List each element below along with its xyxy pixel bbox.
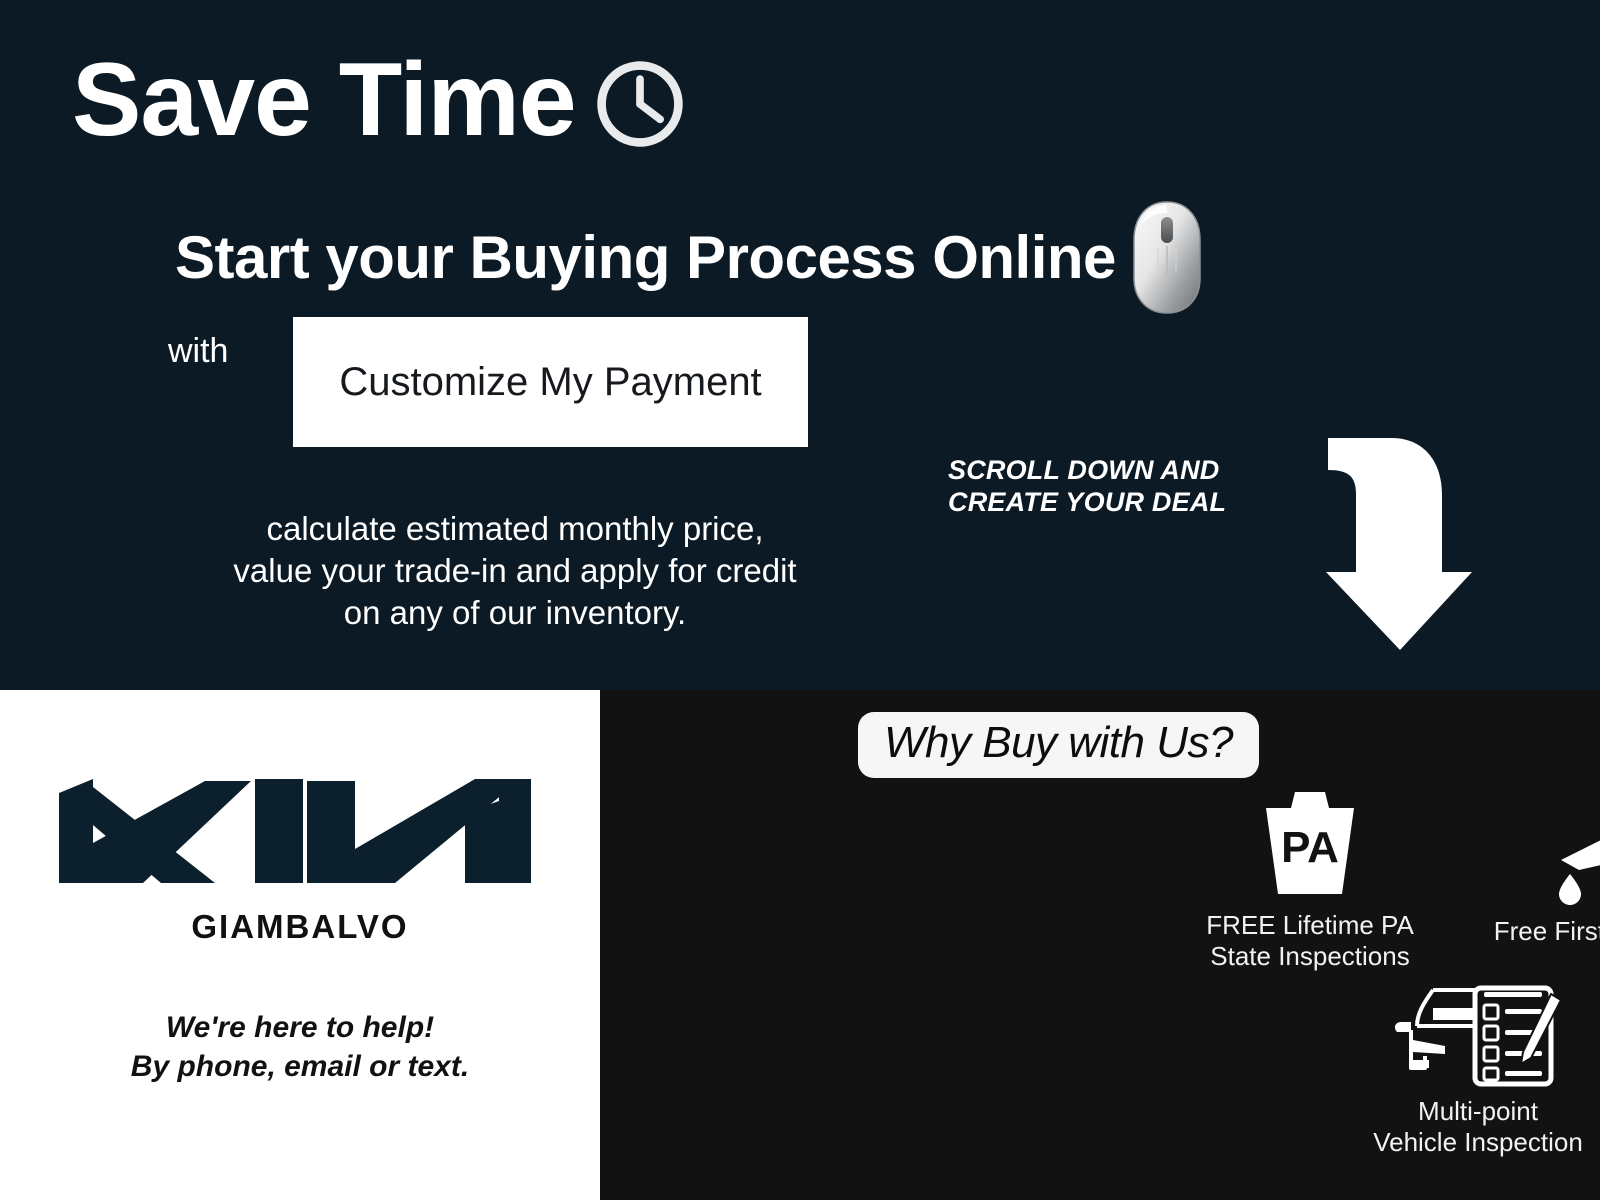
contact-help-line-1: We're here to help! [0, 1008, 600, 1047]
clock-icon [592, 56, 688, 152]
kia-logo [55, 765, 535, 900]
perk-multipoint-label: Multi-point Vehicle Inspection [1373, 1096, 1583, 1158]
perk-oil-label: Free First Oil Change [1494, 916, 1600, 947]
down-arrow-icon [1296, 432, 1472, 654]
perk-multipoint-inspection: Multi-point Vehicle Inspection [1308, 978, 1600, 1158]
oil-can-icon [1543, 788, 1600, 908]
hero-panel: Save Time Start your Buying Process Onli… [0, 0, 1600, 690]
perk-oil-change: Free First Oil Change [1468, 788, 1600, 947]
perk-pa-inspections: PA FREE Lifetime PA State Inspections [1160, 782, 1460, 972]
car-checklist-icon [1391, 978, 1566, 1088]
customize-my-payment-button[interactable]: Customize My Payment [293, 317, 808, 447]
contact-help-line-2: By phone, email or text. [0, 1047, 600, 1086]
contact-help-text: We're here to help! By phone, email or t… [0, 1008, 600, 1086]
pa-keystone-icon: PA [1250, 782, 1370, 902]
why-buy-heading: Why Buy with Us? [858, 712, 1259, 778]
hero-description: calculate estimated monthly price, value… [150, 508, 880, 634]
dealer-name: GIAMBALVO [0, 908, 600, 946]
promo-banner: Save Time Start your Buying Process Onli… [0, 0, 1600, 1200]
perk-pa-label: FREE Lifetime PA State Inspections [1206, 910, 1414, 972]
with-label: with [168, 332, 228, 371]
computer-mouse-icon [1130, 200, 1204, 316]
hero-subtitle-row: Start your Buying Process Online [175, 200, 1204, 316]
customize-my-payment-label: Customize My Payment [339, 360, 761, 405]
hero-subtitle: Start your Buying Process Online [175, 228, 1116, 288]
hero-title-row: Save Time [72, 48, 688, 152]
why-buy-heading-label: Why Buy with Us? [884, 718, 1233, 767]
why-buy-panel: Why Buy with Us? PA FREE Lifetime PA Sta… [600, 690, 1600, 1200]
pa-keystone-text: PA [1281, 823, 1339, 872]
brand-panel: GIAMBALVO We're here to help! By phone, … [0, 690, 600, 1200]
scroll-down-note: SCROLL DOWN AND CREATE YOUR DEAL [948, 455, 1288, 519]
page-title: Save Time [72, 48, 576, 152]
